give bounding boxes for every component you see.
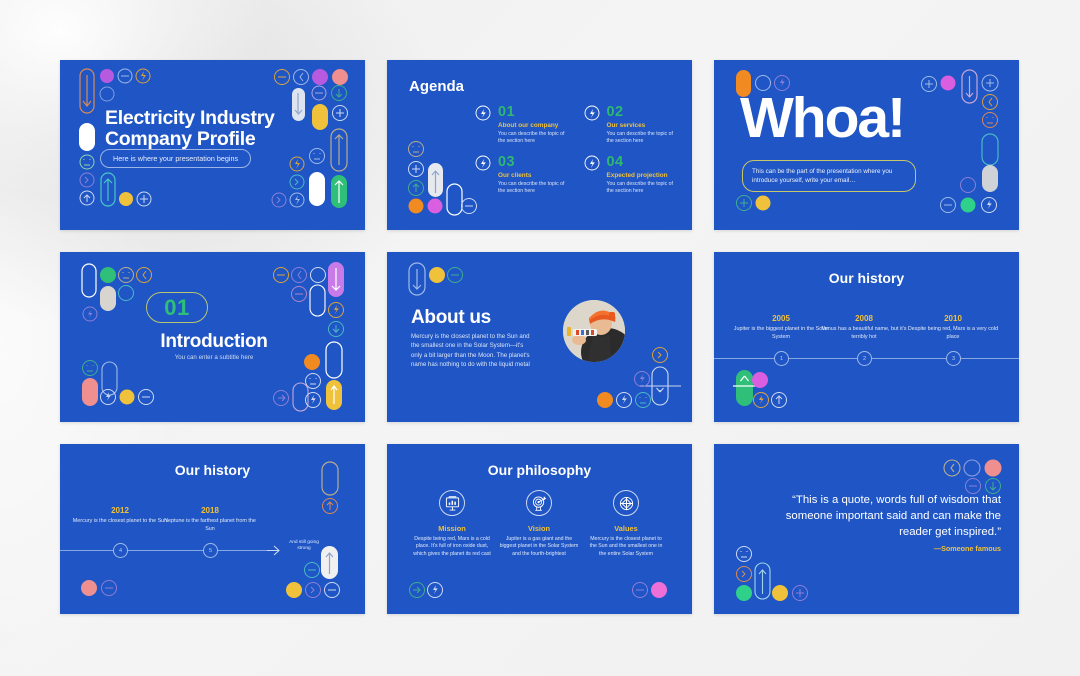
- slide-thumbnail-agenda[interactable]: Agenda 01 About our company You can desc…: [387, 60, 692, 230]
- whoa-heading: Whoa!: [740, 90, 904, 147]
- subtitle-pill: Here is where your presentation begins: [100, 149, 251, 168]
- about-title: About us: [411, 307, 491, 329]
- agenda-body: You can describe the topic of the sectio…: [498, 131, 572, 146]
- agenda-body: You can describe the topic of the sectio…: [607, 181, 681, 196]
- timeline-year: 2012: [75, 506, 165, 515]
- agenda-label: Our clients: [498, 172, 572, 179]
- section-number: 01: [164, 295, 189, 321]
- timeline-desc: Mercury is the closest planet to the Sun: [71, 518, 169, 526]
- timeline-node[interactable]: 4: [113, 543, 128, 558]
- timeline-year: 2018: [165, 506, 255, 515]
- philosophy-heading: Mission: [412, 524, 492, 533]
- philosophy-body: Despite being red, Mars is a cold place.…: [412, 536, 492, 558]
- agenda-number: 04: [607, 155, 681, 170]
- section-number-badge: 01: [146, 292, 208, 323]
- timeline-year: 2010: [908, 314, 998, 323]
- electrician-worker-photo: [563, 300, 625, 362]
- timeline-node[interactable]: 5: [203, 543, 218, 558]
- timeline-end-note: And still going strong: [282, 540, 326, 553]
- page-title: Electricity Industry Company Profile: [105, 108, 335, 151]
- agenda-number: 01: [498, 105, 572, 120]
- agenda-label: About our company: [498, 122, 572, 129]
- timeline-node[interactable]: 1: [774, 351, 789, 366]
- philosophy-body: Mercury is the closest planet to the Sun…: [586, 536, 666, 558]
- slide-thumbnail-about-us[interactable]: About us Mercury is the closest planet t…: [387, 252, 692, 422]
- agenda-item[interactable]: 04 Expected projection You can describe …: [584, 155, 681, 195]
- section-title: Introduction: [144, 331, 284, 353]
- timeline-year: 2008: [819, 314, 909, 323]
- philosophy-heading: Values: [586, 524, 666, 533]
- presentation-chart-icon: [439, 490, 465, 516]
- history-title: Our history: [60, 462, 365, 478]
- target-dartboard-icon: [526, 490, 552, 516]
- agenda-label: Our services: [607, 122, 681, 129]
- bolt-circle-icon: [584, 105, 600, 121]
- quote-author: —Someone famous: [934, 544, 1001, 553]
- agenda-body: You can describe the topic of the sectio…: [498, 181, 572, 196]
- agenda-number: 03: [498, 155, 572, 170]
- timeline-axis: [60, 550, 278, 551]
- timeline-node[interactable]: 2: [857, 351, 872, 366]
- section-subtitle: You can enter a subtitle here: [144, 354, 284, 361]
- timeline-desc: Neptune is the farthest planet from the …: [161, 518, 259, 533]
- about-photo: [563, 300, 625, 362]
- philosophy-heading: Vision: [499, 524, 579, 533]
- slide-thumbnail-title[interactable]: Electricity Industry Company Profile Her…: [60, 60, 365, 230]
- about-body: Mercury is the closest planet to the Sun…: [411, 332, 536, 370]
- pinwheel-icon: [613, 490, 639, 516]
- agenda-body: You can describe the topic of the sectio…: [607, 131, 681, 146]
- bolt-circle-icon: [475, 105, 491, 121]
- philosophy-column-vision[interactable]: Vision Jupiter is a gas giant and the bi…: [499, 490, 579, 558]
- timeline-node[interactable]: 3: [946, 351, 961, 366]
- bolt-circle-icon: [584, 155, 600, 171]
- slide-thumbnail-grid: Electricity Industry Company Profile Her…: [60, 60, 1020, 616]
- slide-thumbnail-whoa[interactable]: Whoa! This can be the part of the presen…: [714, 60, 1019, 230]
- philosophy-column-mission[interactable]: Mission Despite being red, Mars is a col…: [412, 490, 492, 558]
- philosophy-body: Jupiter is a gas giant and the biggest p…: [499, 536, 579, 558]
- philosophy-column-values[interactable]: Values Mercury is the closest planet to …: [586, 490, 666, 558]
- slide-thumbnail-history-2[interactable]: Our history 2012 Mercury is the closest …: [60, 444, 365, 614]
- philosophy-title: Our philosophy: [387, 462, 692, 478]
- timeline-desc: Despite being red, Mars is a very cold p…: [904, 326, 1002, 341]
- history-title: Our history: [714, 270, 1019, 286]
- agenda-item[interactable]: 02 Our services You can describe the top…: [584, 105, 681, 145]
- agenda-number: 02: [607, 105, 681, 120]
- slide-thumbnail-introduction[interactable]: 01 Introduction You can enter a subtitle…: [60, 252, 365, 422]
- slide-thumbnail-history-1[interactable]: Our history 2005 Jupiter is the biggest …: [714, 252, 1019, 422]
- bolt-circle-icon: [475, 155, 491, 171]
- agenda-items: 01 About our company You can describe th…: [475, 105, 680, 196]
- agenda-label: Expected projection: [607, 172, 681, 179]
- agenda-heading: Agenda: [409, 78, 464, 95]
- whoa-pill-text: This can be the part of the presentation…: [742, 160, 916, 192]
- slide-thumbnail-quote[interactable]: “This is a quote, words full of wisdom t…: [714, 444, 1019, 614]
- slide-thumbnail-philosophy[interactable]: Our philosophy Mission Despite being red…: [387, 444, 692, 614]
- timeline-desc: Venus has a beautiful name, but it's ter…: [815, 326, 913, 341]
- agenda-item[interactable]: 01 About our company You can describe th…: [475, 105, 572, 145]
- timeline-year: 2005: [736, 314, 826, 323]
- agenda-item[interactable]: 03 Our clients You can describe the topi…: [475, 155, 572, 195]
- quote-text: “This is a quote, words full of wisdom t…: [779, 492, 1001, 541]
